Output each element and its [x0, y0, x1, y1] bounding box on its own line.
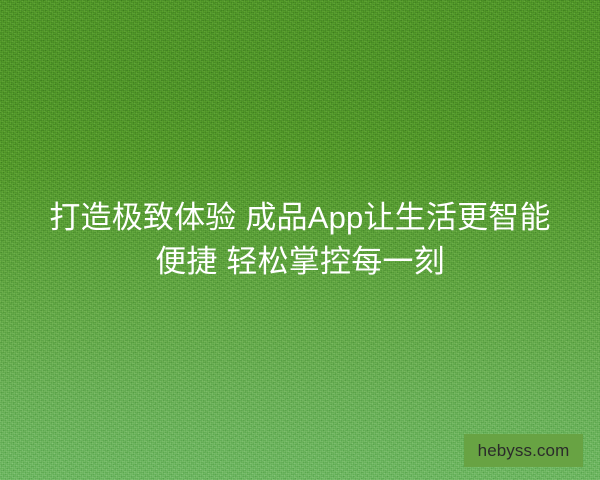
promo-banner: 打造极致体验 成品App让生活更智能便捷 轻松掌控每一刻 hebyss.com: [0, 0, 600, 480]
watermark-badge: hebyss.com: [464, 434, 583, 467]
watermark-label: hebyss.com: [478, 442, 570, 459]
headline-container: 打造极致体验 成品App让生活更智能便捷 轻松掌控每一刻: [0, 0, 600, 480]
headline-text: 打造极致体验 成品App让生活更智能便捷 轻松掌控每一刻: [38, 196, 562, 284]
